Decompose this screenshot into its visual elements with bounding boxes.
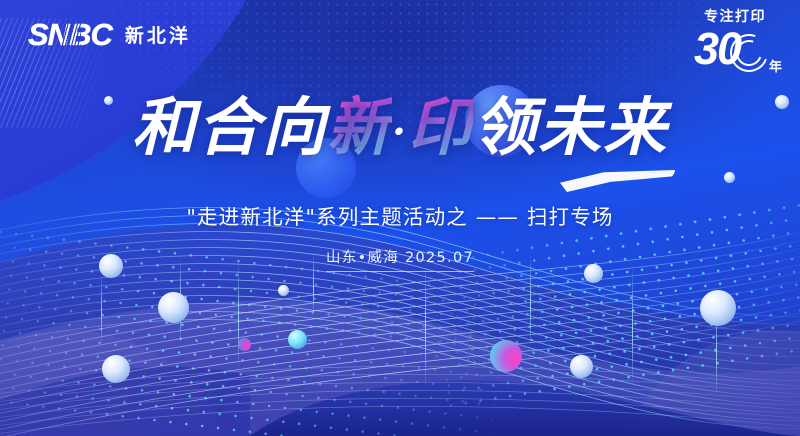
- event-subtitle: "走进新北洋"系列主题活动之 —— 扫打专场: [0, 200, 800, 230]
- light-beam: [101, 274, 102, 344]
- snbc-logo: SNBC 新北洋: [28, 16, 191, 52]
- decorative-sphere: [158, 292, 189, 323]
- title-brush-swoosh: [560, 170, 675, 192]
- decorative-sphere: [700, 290, 736, 326]
- event-meta-block: 山东•威海 2025.07: [0, 246, 800, 272]
- decorative-sphere: [102, 355, 130, 383]
- light-beam: [238, 260, 239, 370]
- bottom-left-translucent-circle: [0, 330, 240, 436]
- decorative-sphere: [570, 355, 593, 378]
- anniversary-badge: 专注打印 30 年: [686, 10, 784, 82]
- title-separator-dot: ·: [392, 109, 408, 156]
- logo-wordmark: SNBC: [28, 19, 112, 50]
- title-part-4: 领未来: [473, 90, 668, 164]
- light-beam: [716, 300, 717, 396]
- anniversary-tagline: 专注打印: [686, 10, 784, 24]
- light-beam: [632, 266, 633, 384]
- main-title: 和合向新·印领未来: [132, 96, 668, 159]
- decorative-sphere-pink-small: [238, 338, 251, 351]
- decorative-sphere-cyan: [288, 330, 307, 349]
- event-location-date: 山东•威海 2025.07: [326, 246, 474, 272]
- bottom-right-translucent-circle: [615, 330, 800, 436]
- anniversary-graphic: 30 年: [686, 27, 784, 77]
- main-title-block: 和合向新·印领未来: [0, 96, 800, 159]
- decorative-sphere: [278, 285, 289, 296]
- logo-company-name-cn: 新北洋: [125, 21, 191, 48]
- decorative-sphere: [724, 172, 735, 183]
- event-banner: SNBC 新北洋 专注打印 30 年 和合向新·印领未来 "走进新北洋"系列主题…: [0, 0, 800, 436]
- logo-wordmark-text: SNBC: [28, 17, 112, 52]
- light-beam: [425, 262, 426, 388]
- title-part-2-gradient: 新: [327, 90, 392, 164]
- anniversary-unit: 年: [769, 56, 782, 75]
- title-part-1: 和合向: [132, 90, 327, 164]
- title-part-3-gradient: 印: [408, 90, 473, 164]
- decorative-sphere-pink: [490, 340, 522, 372]
